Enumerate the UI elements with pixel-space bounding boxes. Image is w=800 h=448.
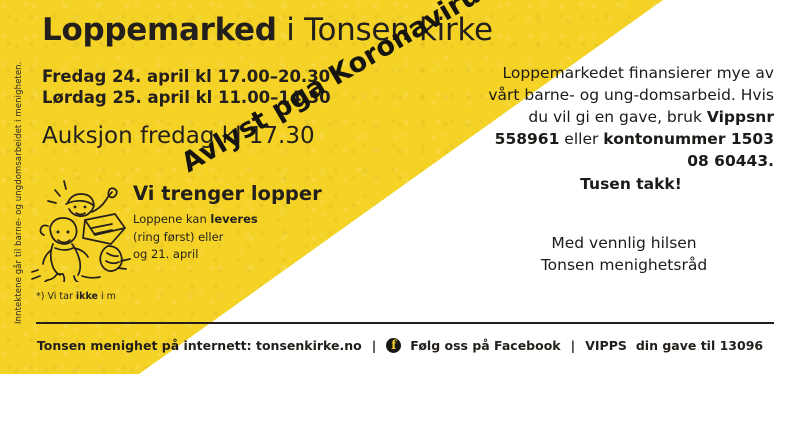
footnote: *) Vi tar ikke i m [36, 291, 116, 302]
needs-line-2: (ring først) eller [133, 229, 258, 247]
facebook-icon[interactable]: f [386, 338, 401, 353]
footer-divider [36, 322, 774, 324]
account-number: kontonummer 1503 08 60443. [603, 130, 774, 170]
page-title-bold: Loppemarked [42, 12, 277, 48]
event-date-friday: Fredag 24. april kl 17.00–20.30 [42, 66, 331, 87]
needs-line-1-prefix: Loppene kan [133, 212, 210, 226]
thanks-text: Tusen takk! [488, 173, 774, 195]
footer-website[interactable]: Tonsen menighet på internett: tonsenkirk… [37, 338, 362, 353]
footer-vipps-label: VIPPS [585, 338, 627, 353]
footnote-suffix: i m [98, 291, 116, 302]
poster: Inntektene går til barne- og ungdomsarbe… [0, 0, 800, 374]
signoff-line-2: Tonsen menighetsråd [494, 254, 754, 276]
footer-separator-2: | [571, 338, 576, 353]
illustration-flea-market [22, 176, 138, 282]
footnote-bold: ikke [76, 291, 98, 302]
needs-line-1-bold: leveres [210, 212, 257, 226]
footer-separator-1: | [372, 338, 377, 353]
signoff: Med vennlig hilsen Tonsen menighetsråd [494, 232, 754, 276]
footer-vipps-tail: din gave til 13096 [636, 338, 763, 353]
footnote-prefix: *) Vi tar [36, 291, 76, 302]
needs-body: Loppene kan leveres (ring først) eller o… [133, 211, 258, 264]
needs-line-3: og 21. april [133, 246, 258, 264]
footer-bar: Tonsen menighet på internett: tonsenkirk… [0, 334, 800, 356]
footer-facebook[interactable]: Følg oss på Facebook [410, 338, 560, 353]
signoff-line-1: Med vennlig hilsen [494, 232, 754, 254]
donation-notice: Loppemarkedet finansierer mye av vårt ba… [488, 62, 774, 195]
needs-line-1: Loppene kan leveres [133, 211, 258, 229]
vertical-side-note: Inntektene går til barne- og ungdomsarbe… [14, 56, 24, 324]
needs-heading: Vi trenger lopper [133, 182, 322, 205]
donation-between: eller [559, 130, 603, 148]
